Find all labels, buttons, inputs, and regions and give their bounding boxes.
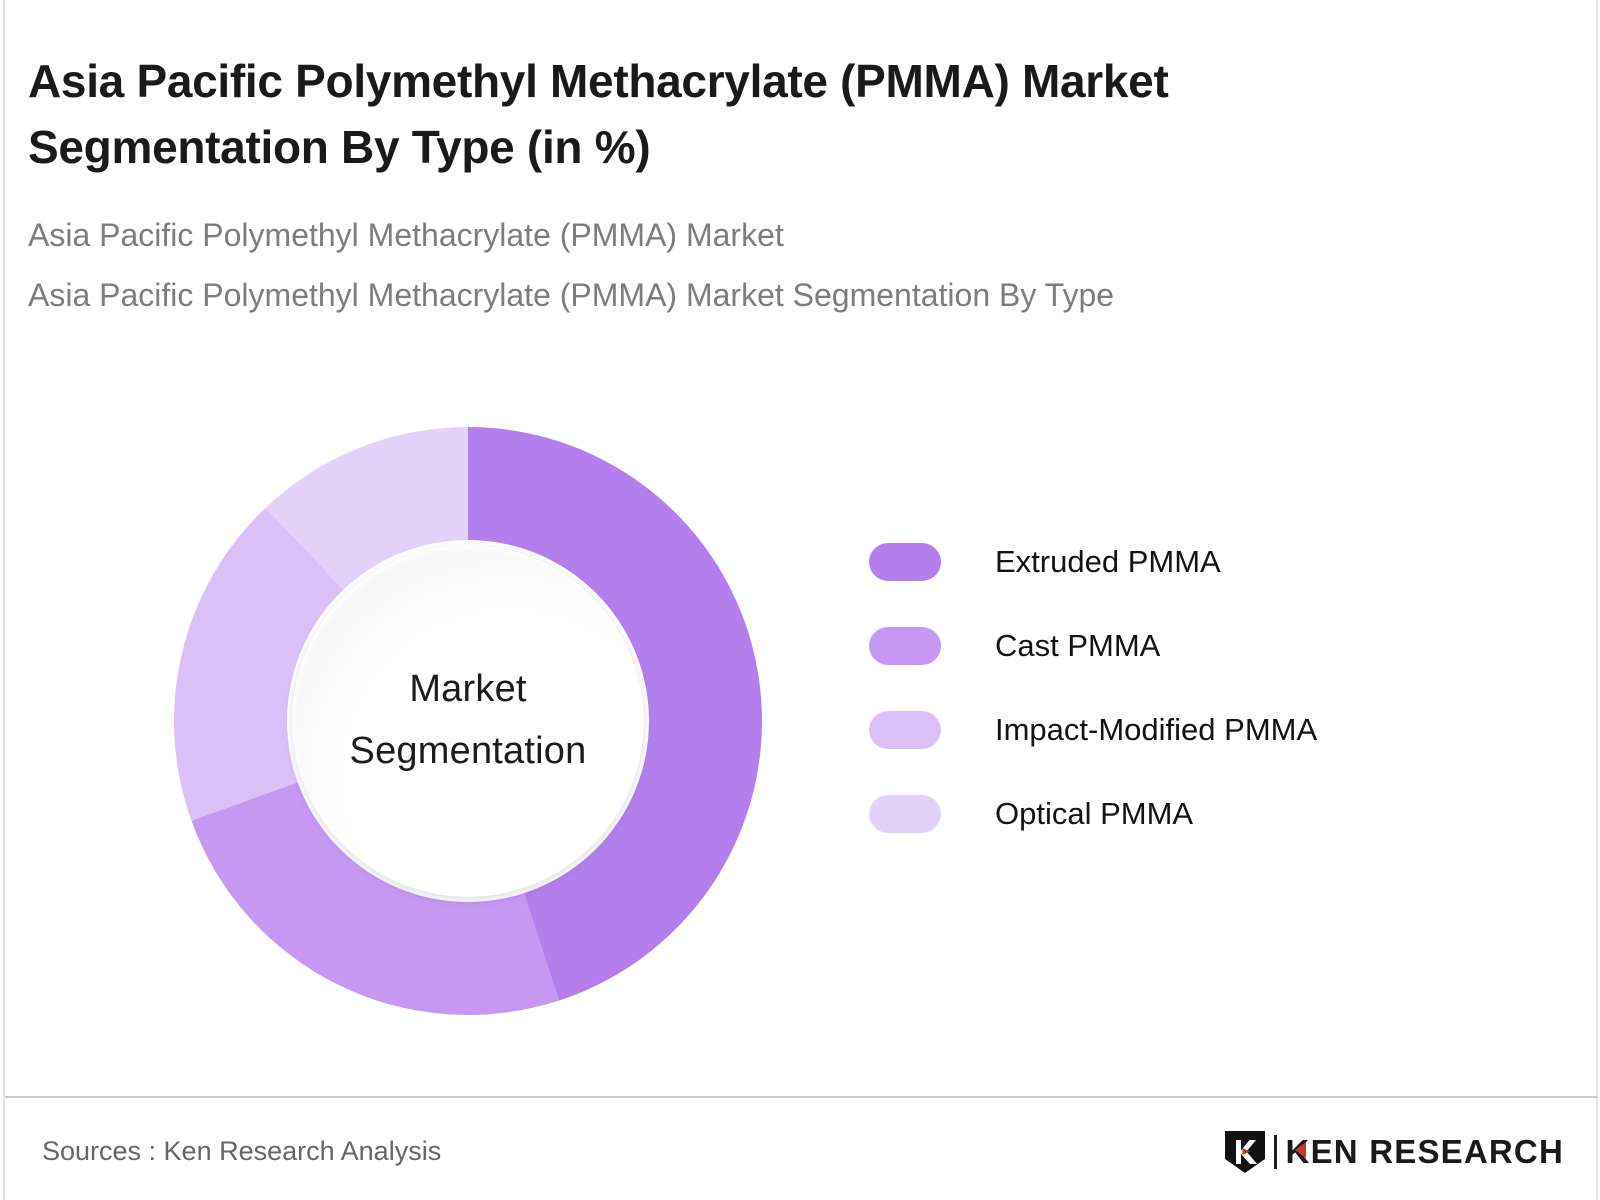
legend-item[interactable]: Impact-Modified PMMA	[869, 688, 1489, 772]
chart-area: Market Segmentation Extruded PMMACast PM…	[0, 400, 1600, 1050]
legend-item[interactable]: Extruded PMMA	[869, 520, 1489, 604]
chart-page: Asia Pacific Polymethyl Methacrylate (PM…	[0, 0, 1600, 1200]
legend-label: Optical PMMA	[995, 796, 1193, 832]
legend-item[interactable]: Optical PMMA	[869, 772, 1489, 856]
subtitle-group: Asia Pacific Polymethyl Methacrylate (PM…	[28, 206, 1428, 325]
legend-swatch	[869, 711, 941, 749]
legend-item[interactable]: Cast PMMA	[869, 604, 1489, 688]
donut-center-label: Market Segmentation	[350, 659, 587, 782]
legend-swatch	[869, 795, 941, 833]
donut-center-line-1: Market	[350, 659, 587, 721]
ken-research-shield-icon	[1223, 1129, 1267, 1175]
brand-k-letter: K	[1286, 1133, 1311, 1171]
donut-chart: Market Segmentation	[174, 427, 762, 1015]
subtitle-line-1: Asia Pacific Polymethyl Methacrylate (PM…	[28, 206, 1428, 266]
header: Asia Pacific Polymethyl Methacrylate (PM…	[28, 48, 1428, 326]
legend-label: Extruded PMMA	[995, 544, 1221, 580]
legend-label: Cast PMMA	[995, 628, 1160, 664]
footer: Sources : Ken Research Analysis K EN RES…	[0, 1098, 1600, 1200]
legend-swatch	[869, 627, 941, 665]
donut-center-hole: Market Segmentation	[292, 545, 644, 897]
subtitle-line-2: Asia Pacific Polymethyl Methacrylate (PM…	[28, 266, 1428, 326]
brand-name: K EN RESEARCH	[1286, 1133, 1564, 1171]
donut-center-line-2: Segmentation	[350, 721, 587, 783]
page-title: Asia Pacific Polymethyl Methacrylate (PM…	[28, 48, 1388, 180]
brand-logo: K EN RESEARCH	[1223, 1126, 1564, 1178]
brand-divider	[1274, 1135, 1277, 1169]
chart-legend: Extruded PMMACast PMMAImpact-Modified PM…	[869, 520, 1489, 856]
brand-k-accent-triangle-icon	[1295, 1142, 1306, 1158]
sources-label: Sources : Ken Research Analysis	[42, 1136, 441, 1167]
brand-name-rest: EN RESEARCH	[1311, 1133, 1564, 1171]
legend-swatch	[869, 543, 941, 581]
legend-label: Impact-Modified PMMA	[995, 712, 1317, 748]
